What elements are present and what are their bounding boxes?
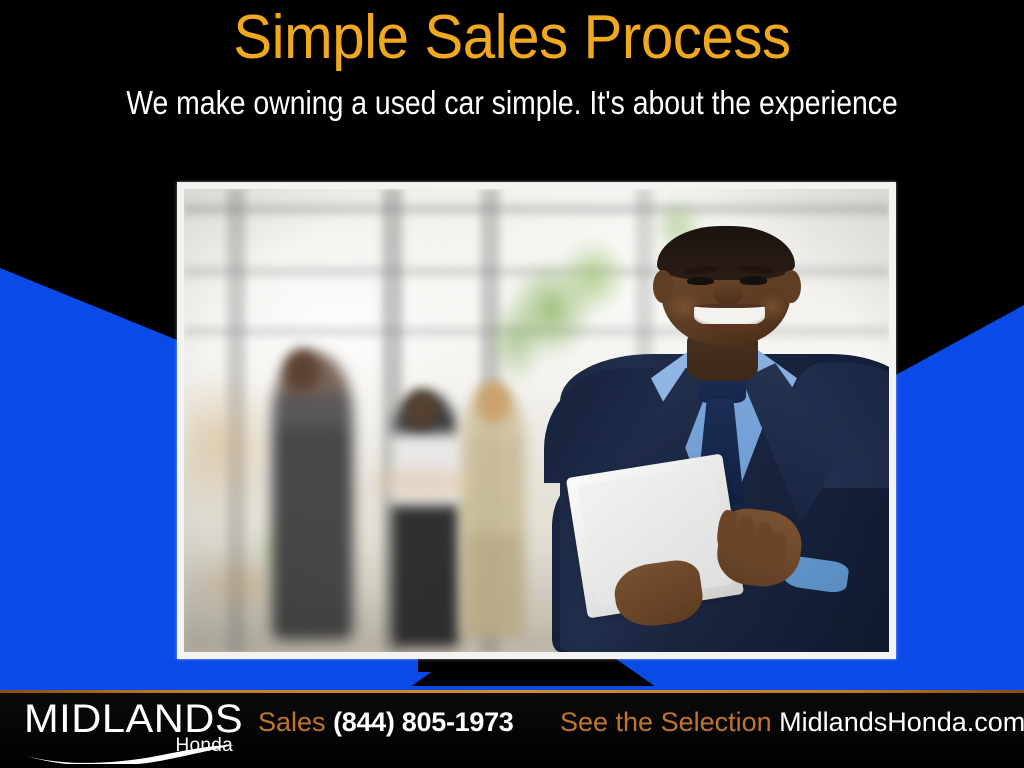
ad-banner: Simple Sales Process We make owning a us… <box>0 0 1024 768</box>
selection-label: See the Selection <box>560 707 772 737</box>
phone-number[interactable]: (844) 805-1973 <box>333 707 513 737</box>
page-title: Simple Sales Process <box>31 4 994 72</box>
photo-vignette <box>184 189 889 652</box>
selection-website-block[interactable]: See the Selection MidlandsHonda.com <box>560 707 1024 737</box>
sales-label: Sales <box>258 707 326 737</box>
website-url[interactable]: MidlandsHonda.com <box>779 707 1024 737</box>
sales-phone-block[interactable]: Sales (844) 805-1973 <box>258 707 514 737</box>
hero-photo <box>184 189 889 652</box>
page-subtitle: We make owning a used car simple. It's a… <box>72 84 953 122</box>
dealer-logo[interactable]: MIDLANDS Honda <box>24 698 239 760</box>
logo-swoosh-icon <box>22 734 237 764</box>
